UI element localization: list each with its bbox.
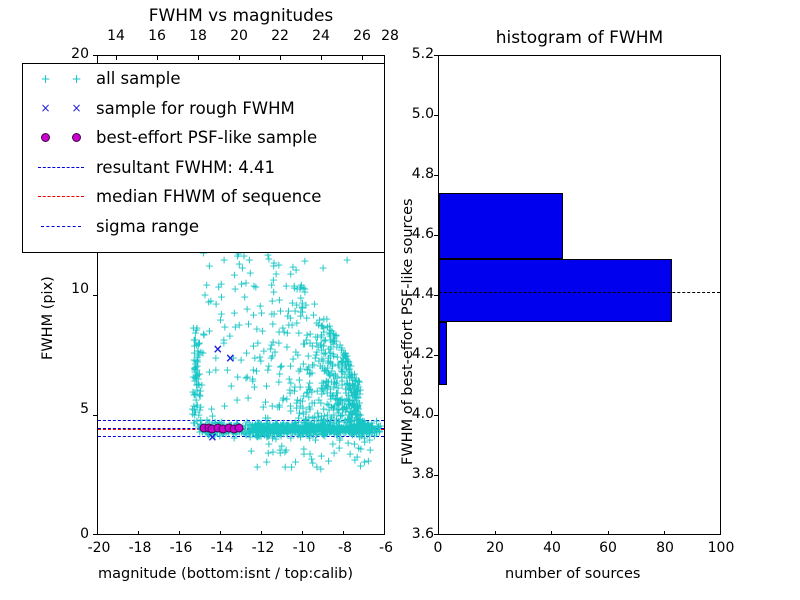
top-tick-14: 14 (100, 28, 132, 44)
scatter-plus-marker: + (325, 421, 334, 432)
scatter-plus-marker: + (251, 425, 260, 436)
scatter-plus-marker: + (246, 268, 255, 279)
legend-item-sigma-range[interactable]: sigma range (23, 212, 384, 242)
scatter-plus-marker: + (292, 299, 301, 310)
scatter-plus-marker: + (301, 425, 310, 436)
scatter-plus-marker: + (312, 416, 321, 427)
scatter-plus-marker: + (350, 439, 359, 450)
scatter-plus-marker: + (296, 310, 305, 321)
rtick-y5.2 (434, 55, 438, 56)
scatter-plus-marker: + (193, 345, 202, 356)
scatter-plus-marker: + (291, 265, 300, 276)
scatter-plus-marker: + (317, 339, 326, 350)
scatter-plus-marker: + (351, 421, 360, 432)
tick-y20 (93, 55, 97, 56)
scatter-plus-marker: + (275, 402, 284, 413)
scatter-plus-marker: + (317, 421, 326, 432)
scatter-plus-marker: + (335, 340, 344, 351)
scatter-plus-marker: + (350, 402, 359, 413)
tick-t2 (198, 56, 199, 60)
scatter-plus-marker: + (352, 451, 361, 462)
rtick-x0 (438, 531, 439, 535)
scatter-plus-marker: + (349, 401, 358, 412)
scatter-plus-marker: + (238, 262, 247, 273)
scatter-plus-marker: + (330, 378, 339, 389)
scatter-plus-marker: + (350, 391, 359, 402)
scatter-plus-marker: + (190, 348, 199, 359)
scatter-plus-marker: + (275, 425, 284, 436)
scatter-plus-marker: + (271, 433, 280, 444)
scatter-plus-marker: + (243, 371, 252, 382)
scatter-plus-marker: + (328, 359, 337, 370)
scatter-plus-marker: + (307, 368, 316, 379)
scatter-plus-marker: + (305, 378, 314, 389)
scatter-plus-marker: + (253, 338, 262, 349)
scatter-plus-marker: + (332, 416, 341, 427)
scatter-plus-marker: + (319, 335, 328, 346)
scatter-plus-marker: + (333, 398, 342, 409)
scatter-plus-marker: + (321, 348, 330, 359)
scatter-plus-marker: + (302, 329, 311, 340)
scatter-plus-marker: + (248, 375, 257, 386)
scatter-plus-marker: + (294, 412, 303, 423)
scatter-plus-marker: + (342, 403, 351, 414)
scatter-plus-marker: + (345, 399, 354, 410)
tick-b7 (384, 531, 385, 535)
scatter-plus-marker: + (292, 425, 301, 436)
scatter-plus-marker: + (314, 395, 323, 406)
scatter-plus-marker: + (349, 405, 358, 416)
scatter-plus-marker: + (326, 393, 335, 404)
scatter-plus-marker: + (266, 344, 275, 355)
scatter-plus-marker: + (299, 416, 308, 427)
scatter-plus-marker: + (190, 405, 199, 416)
right-panel-xlabel: number of sources (505, 566, 641, 582)
scatter-plus-marker: + (330, 330, 339, 341)
scatter-plus-marker: + (191, 365, 200, 376)
tick-b5 (302, 531, 303, 535)
scatter-plus-marker: + (362, 421, 371, 432)
scatter-plus-marker: + (303, 365, 312, 376)
scatter-plus-marker: + (245, 255, 254, 266)
scatter-plus-marker: + (220, 401, 229, 412)
scatter-plus-marker: + (291, 347, 300, 358)
scatter-plus-marker: + (205, 325, 214, 336)
scatter-plus-marker: + (251, 429, 260, 440)
scatter-plus-marker: + (318, 425, 327, 436)
scatter-plus-marker: + (316, 397, 325, 408)
scatter-plus-marker: + (341, 359, 350, 370)
scatter-plus-marker: + (189, 323, 198, 334)
scatter-plus-marker: + (251, 281, 260, 292)
scatter-plus-marker: + (256, 422, 265, 433)
top-tick-20: 20 (223, 28, 255, 44)
scatter-plus-marker: + (307, 397, 316, 408)
scatter-plus-marker: + (334, 399, 343, 410)
legend-label: sigma range (92, 217, 199, 236)
legend-box[interactable]: + + all sample × × sample for rough FWHM… (22, 63, 385, 253)
scatter-plus-marker: + (290, 283, 299, 294)
scatter-plus-marker: + (344, 398, 353, 409)
scatter-plus-marker: + (342, 350, 351, 361)
scatter-plus-marker: + (190, 364, 199, 375)
left-panel-title: FWHM vs magnitudes (97, 6, 385, 26)
scatter-plus-marker: + (260, 430, 269, 441)
scatter-plus-marker: + (252, 366, 261, 377)
scatter-plus-marker: + (342, 421, 351, 432)
scatter-plus-marker: + (249, 340, 258, 351)
scatter-plus-marker: + (191, 406, 200, 417)
top-tick-28: 28 (374, 28, 406, 44)
scatter-plus-marker: + (344, 366, 353, 377)
scatter-plus-marker: + (374, 421, 383, 432)
scatter-plus-marker: + (289, 421, 298, 432)
scatter-plus-marker: + (323, 355, 332, 366)
scatter-plus-marker: + (365, 425, 374, 436)
scatter-plus-marker: + (255, 425, 264, 436)
scatter-plus-marker: + (346, 425, 355, 436)
scatter-plus-marker: + (350, 421, 359, 432)
right-plot-area[interactable] (438, 55, 721, 535)
scatter-plus-marker: + (343, 437, 352, 448)
scatter-plus-marker: + (374, 422, 383, 433)
scatter-plus-marker: + (329, 381, 338, 392)
scatter-plus-marker: + (318, 383, 327, 394)
scatter-plus-marker: + (277, 360, 286, 371)
scatter-plus-marker: + (352, 386, 361, 397)
scatter-plus-marker: + (319, 322, 328, 333)
scatter-plus-marker: + (329, 421, 338, 432)
scatter-plus-marker: + (205, 367, 214, 378)
scatter-plus-marker: + (256, 300, 265, 311)
bottom-tick-m16: -16 (163, 540, 199, 556)
histogram-bar[interactable] (439, 322, 447, 385)
scatter-plus-marker: + (315, 315, 324, 326)
scatter-plus-marker: + (353, 400, 362, 411)
scatter-plus-marker: + (295, 375, 304, 386)
scatter-plus-marker: + (354, 376, 363, 387)
left-ytick-10: 10 (57, 281, 89, 297)
scatter-plus-marker: + (267, 308, 276, 319)
scatter-plus-marker: + (361, 421, 370, 432)
right-ytick-5.0: 5.0 (400, 106, 434, 122)
scatter-plus-marker: + (304, 362, 313, 373)
scatter-plus-marker: + (311, 332, 320, 343)
rtick-x40 (551, 531, 552, 535)
scatter-plus-marker: + (295, 425, 304, 436)
scatter-plus-marker: + (286, 406, 295, 417)
rtick-x100 (720, 531, 721, 535)
scatter-plus-marker: + (299, 444, 308, 455)
scatter-plus-marker: + (306, 421, 315, 432)
scatter-plus-marker: + (325, 320, 334, 331)
scatter-plus-marker: + (296, 292, 305, 303)
scatter-plus-marker: + (351, 425, 360, 436)
scatter-plus-marker: + (302, 312, 311, 323)
scatter-plus-marker: + (192, 371, 201, 382)
scatter-plus-marker: + (348, 379, 357, 390)
scatter-plus-marker: + (317, 378, 326, 389)
scatter-plus-marker: + (320, 425, 329, 436)
rtick-x20 (495, 531, 496, 535)
scatter-plus-marker: + (308, 457, 317, 468)
scatter-plus-marker: + (347, 369, 356, 380)
scatter-plus-marker: + (279, 422, 288, 433)
figure-canvas: FWHM vs magnitudes 14 16 18 20 22 24 26 … (0, 0, 800, 600)
scatter-plus-marker: + (344, 395, 353, 406)
scatter-plus-marker: + (304, 351, 313, 362)
scatter-plus-marker: + (344, 390, 353, 401)
scatter-plus-marker: + (219, 255, 228, 266)
scatter-plus-marker: + (351, 425, 360, 436)
scatter-plus-marker: + (196, 385, 205, 396)
scatter-plus-marker: + (335, 417, 344, 428)
resultant-line-key (30, 153, 92, 183)
scatter-plus-marker: + (349, 398, 358, 409)
right-xtick-0: 0 (422, 540, 454, 556)
scatter-plus-marker: + (345, 380, 354, 391)
scatter-plus-marker: + (229, 432, 238, 443)
scatter-plus-marker: + (283, 327, 292, 338)
scatter-plus-marker: + (197, 380, 206, 391)
scatter-plus-marker: + (198, 348, 207, 359)
scatter-plus-marker: + (333, 383, 342, 394)
all-sample-marker-key: + + (30, 64, 92, 94)
scatter-plus-marker: + (190, 367, 199, 378)
scatter-plus-marker: + (285, 384, 294, 395)
scatter-plus-marker: + (243, 425, 252, 436)
scatter-plus-marker: + (352, 409, 361, 420)
right-xtick-60: 60 (592, 540, 624, 556)
top-tick-18: 18 (182, 28, 214, 44)
scatter-plus-marker: + (328, 390, 337, 401)
scatter-plus-marker: + (237, 279, 246, 290)
scatter-plus-marker: + (269, 421, 278, 432)
scatter-plus-marker: + (276, 362, 285, 373)
scatter-plus-marker: + (332, 429, 341, 440)
scatter-plus-marker: + (274, 338, 283, 349)
scatter-plus-marker: + (256, 425, 265, 436)
scatter-plus-marker: + (269, 258, 278, 269)
scatter-plus-marker: + (324, 399, 333, 410)
scatter-plus-marker: + (268, 337, 277, 348)
scatter-plus-marker: + (322, 377, 331, 388)
scatter-plus-marker: + (193, 352, 202, 363)
scatter-plus-marker: + (317, 421, 326, 432)
legend-label: median FHWM of sequence (92, 187, 321, 206)
scatter-plus-marker: + (328, 425, 337, 436)
scatter-plus-marker: + (329, 403, 338, 414)
scatter-plus-marker: + (195, 391, 204, 402)
scatter-plus-marker: + (250, 425, 259, 436)
rtick-y4.8 (434, 175, 438, 176)
scatter-plus-marker: + (194, 338, 203, 349)
scatter-plus-marker: + (303, 421, 312, 432)
scatter-plus-marker: + (290, 381, 299, 392)
scatter-plus-marker: + (301, 413, 310, 424)
scatter-plus-marker: + (193, 346, 202, 357)
scatter-plus-marker: + (316, 360, 325, 371)
scatter-plus-marker: + (317, 389, 326, 400)
scatter-plus-marker: + (310, 421, 319, 432)
scatter-plus-marker: + (337, 421, 346, 432)
tick-t5 (321, 56, 322, 60)
scatter-plus-marker: + (260, 425, 269, 436)
scatter-plus-marker: + (353, 400, 362, 411)
scatter-plus-marker: + (261, 413, 270, 424)
scatter-plus-marker: + (295, 284, 304, 295)
scatter-plus-marker: + (286, 378, 295, 389)
scatter-plus-marker: + (290, 385, 299, 396)
scatter-plus-marker: + (349, 396, 358, 407)
scatter-plus-marker: + (192, 371, 201, 382)
scatter-plus-marker: + (305, 421, 314, 432)
scatter-plus-marker: + (325, 325, 334, 336)
scatter-plus-marker: + (348, 400, 357, 411)
legend-item-psf-like[interactable]: best-effort PSF-like sample (23, 123, 384, 153)
scatter-plus-marker: + (211, 364, 220, 375)
scatter-plus-marker: + (254, 425, 263, 436)
scatter-plus-marker: + (190, 334, 199, 345)
scatter-plus-marker: + (296, 364, 305, 375)
scatter-plus-marker: + (194, 379, 203, 390)
scatter-plus-marker: + (341, 360, 350, 371)
scatter-plus-marker: + (350, 405, 359, 416)
legend-item-rough-fwhm[interactable]: × × sample for rough FWHM (23, 94, 384, 124)
scatter-plus-marker: + (349, 425, 358, 436)
scatter-plus-marker: + (350, 387, 359, 398)
scatter-plus-marker: + (353, 385, 362, 396)
scatter-plus-marker: + (232, 395, 241, 406)
scatter-plus-marker: + (329, 339, 338, 350)
scatter-plus-marker: + (361, 425, 370, 436)
scatter-plus-marker: + (312, 346, 321, 357)
scatter-plus-marker: + (348, 429, 357, 440)
scatter-plus-marker: + (319, 378, 328, 389)
scatter-plus-marker: + (311, 350, 320, 361)
scatter-plus-marker: + (353, 380, 362, 391)
scatter-plus-marker: + (332, 335, 341, 346)
scatter-plus-marker: + (249, 365, 258, 376)
scatter-plus-marker: + (262, 429, 271, 440)
tick-y5 (93, 415, 97, 416)
scatter-plus-marker: + (305, 368, 314, 379)
scatter-plus-marker: + (340, 402, 349, 413)
scatter-plus-marker: + (338, 367, 347, 378)
scatter-plus-marker: + (303, 387, 312, 398)
right-ytick-4.0: 4.0 (400, 406, 434, 422)
scatter-plus-marker: + (348, 409, 357, 420)
scatter-plus-marker: + (317, 321, 326, 332)
histogram-bar[interactable] (439, 193, 563, 259)
scatter-plus-marker: + (257, 307, 266, 318)
scatter-plus-marker: + (346, 369, 355, 380)
right-ytick-3.8: 3.8 (400, 466, 434, 482)
scatter-plus-marker: + (263, 413, 272, 424)
scatter-plus-marker: + (193, 357, 202, 368)
scatter-plus-marker: + (298, 402, 307, 413)
scatter-plus-marker: + (193, 354, 202, 365)
median-line-key (30, 182, 92, 212)
scatter-plus-marker: + (350, 375, 359, 386)
scatter-plus-marker: + (225, 331, 234, 342)
scatter-plus-marker: + (334, 397, 343, 408)
scatter-plus-marker: + (268, 447, 277, 458)
scatter-plus-marker: + (304, 401, 313, 412)
scatter-plus-marker: + (326, 341, 335, 352)
scatter-plus-marker: + (318, 321, 327, 332)
scatter-plus-marker: + (214, 282, 223, 293)
scatter-plus-marker: + (277, 421, 286, 432)
scatter-plus-marker: + (241, 278, 250, 289)
scatter-plus-marker: + (196, 347, 205, 358)
scatter-plus-marker: + (295, 382, 304, 393)
scatter-plus-marker: + (339, 403, 348, 414)
rough-fwhm-marker: × (225, 352, 235, 364)
scatter-plus-marker: + (286, 313, 295, 324)
scatter-plus-marker: + (189, 389, 198, 400)
scatter-plus-marker: + (318, 356, 327, 367)
scatter-plus-marker: + (339, 349, 348, 360)
scatter-plus-marker: + (319, 340, 328, 351)
scatter-plus-marker: + (325, 330, 334, 341)
scatter-plus-marker: + (307, 454, 316, 465)
legend-item-all-sample[interactable]: + + all sample (23, 64, 384, 94)
scatter-plus-marker: + (227, 381, 236, 392)
scatter-plus-marker: + (193, 399, 202, 410)
scatter-plus-marker: + (292, 283, 301, 294)
scatter-plus-marker: + (207, 403, 216, 414)
legend-item-resultant-fwhm[interactable]: resultant FWHM: 4.41 (23, 153, 384, 183)
scatter-plus-marker: + (296, 395, 305, 406)
scatter-plus-marker: + (342, 254, 351, 265)
scatter-plus-marker: + (267, 352, 276, 363)
scatter-plus-marker: + (305, 368, 314, 379)
scatter-plus-marker: + (306, 329, 315, 340)
scatter-plus-marker: + (328, 361, 337, 372)
scatter-plus-marker: + (264, 361, 273, 372)
scatter-plus-marker: + (345, 425, 354, 436)
scatter-plus-marker: + (272, 421, 281, 432)
scatter-plus-marker: + (333, 393, 342, 404)
histogram-bar[interactable] (439, 259, 672, 322)
scatter-plus-marker: + (341, 384, 350, 395)
scatter-plus-marker: + (341, 407, 350, 418)
x-icon: × (71, 102, 81, 114)
scatter-plus-marker: + (312, 338, 321, 349)
scatter-plus-marker: + (305, 338, 314, 349)
scatter-plus-marker: + (345, 425, 354, 436)
scatter-plus-marker: + (332, 395, 341, 406)
scatter-plus-marker: + (308, 360, 317, 371)
rtick-y4.4 (434, 295, 438, 296)
scatter-plus-marker: + (344, 357, 353, 368)
scatter-plus-marker: + (280, 446, 289, 457)
scatter-plus-marker: + (286, 400, 295, 411)
tick-b3 (220, 531, 221, 535)
scatter-plus-marker: + (217, 292, 226, 303)
scatter-plus-marker: + (317, 451, 326, 462)
scatter-plus-marker: + (312, 421, 321, 432)
scatter-plus-marker: + (251, 421, 260, 432)
scatter-plus-marker: + (188, 409, 197, 420)
scatter-plus-marker: + (329, 330, 338, 341)
scatter-plus-marker: + (312, 317, 321, 328)
scatter-plus-marker: + (247, 445, 256, 456)
scatter-plus-marker: + (283, 425, 292, 436)
legend-item-median-fwhm[interactable]: median FHWM of sequence (23, 182, 384, 212)
scatter-plus-marker: + (193, 370, 202, 381)
